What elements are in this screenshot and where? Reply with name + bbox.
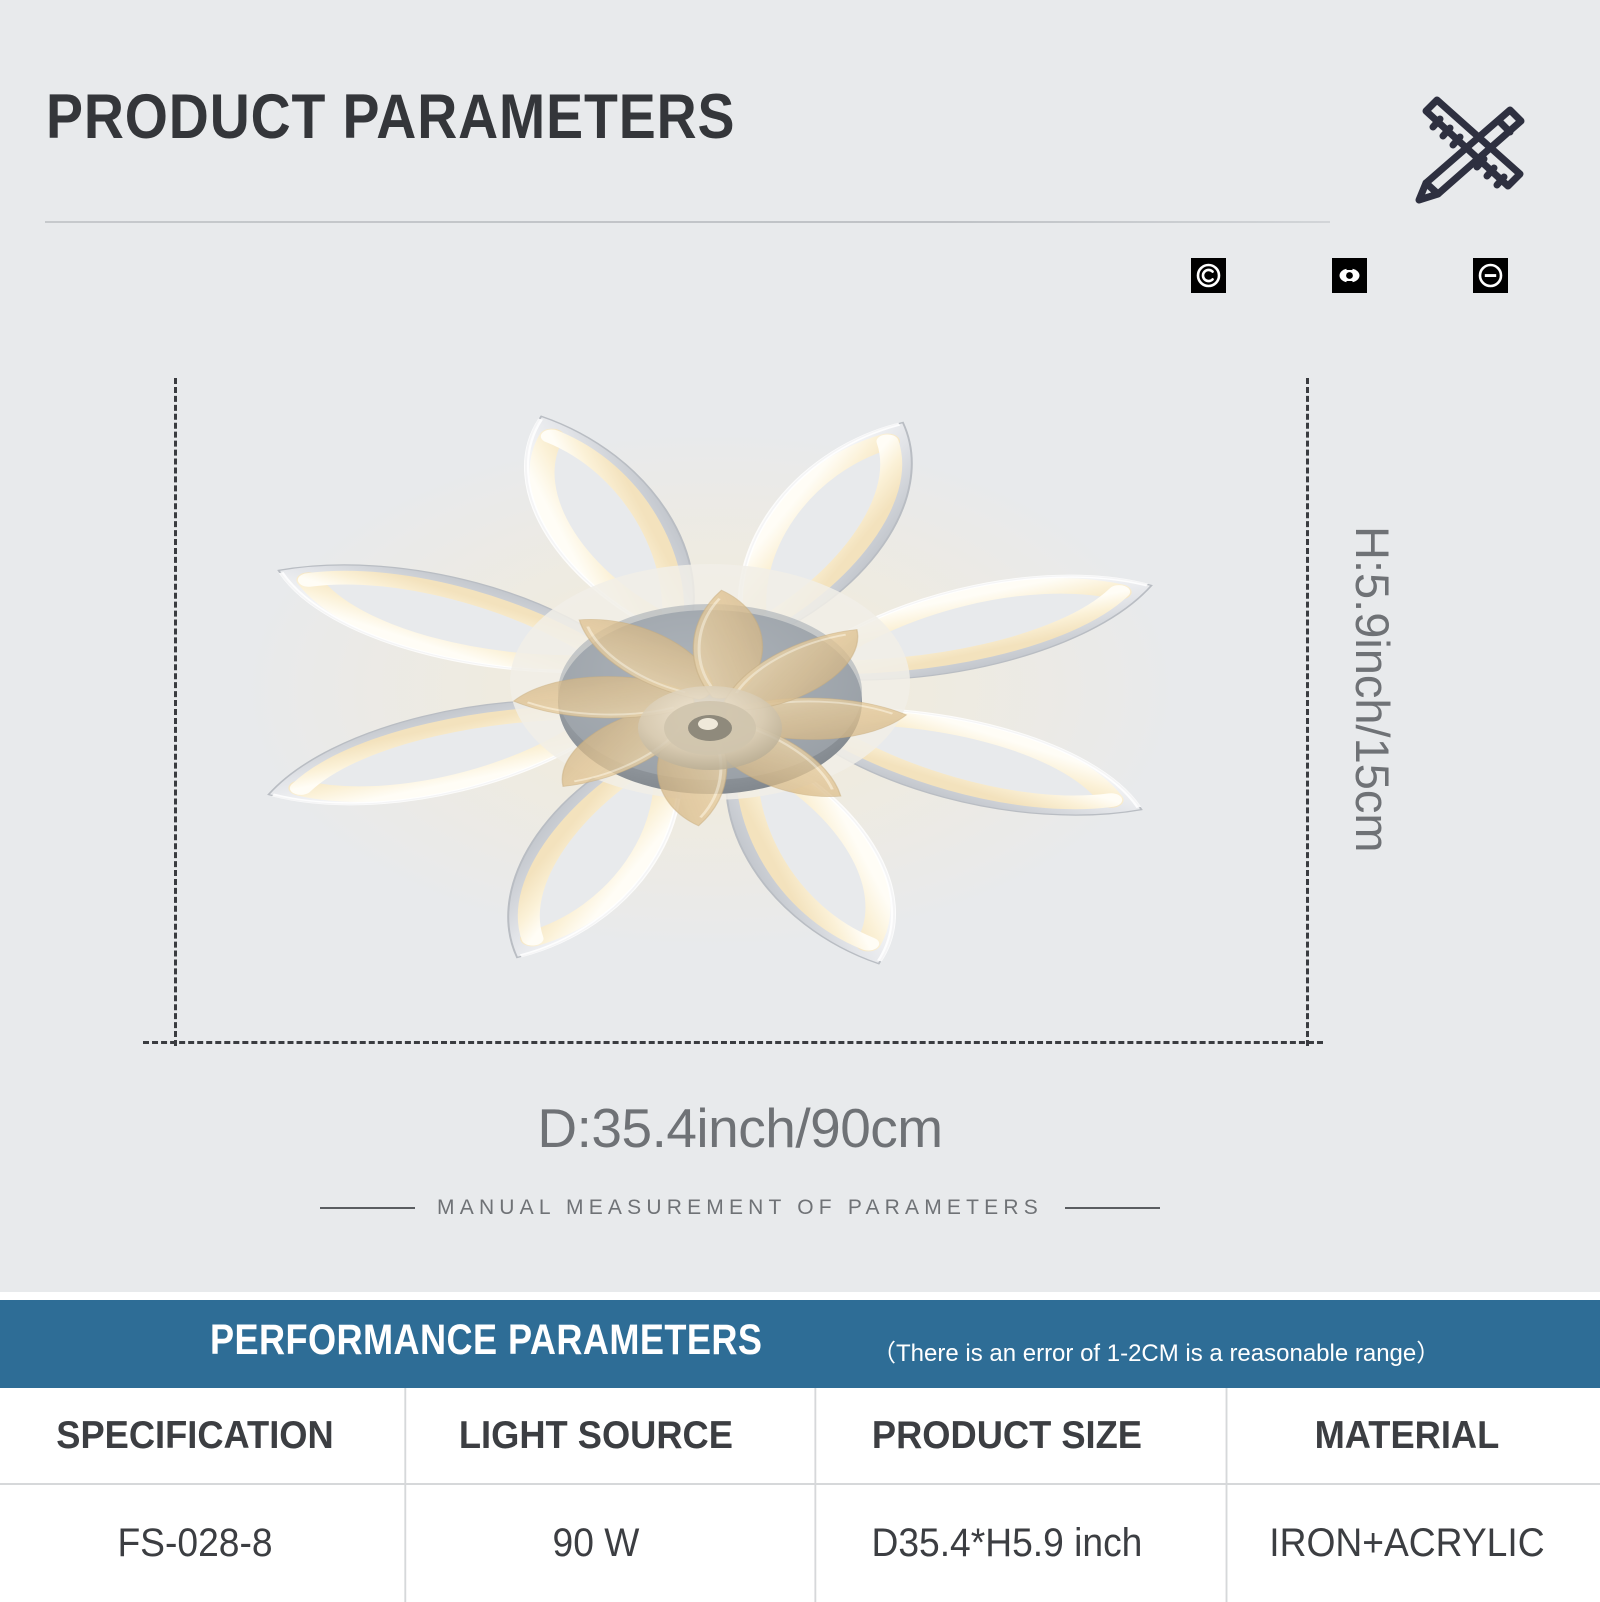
spec-value-specification: FS-028-8 — [14, 1485, 377, 1602]
spec-value-material: IRON+ACRYLIC — [1226, 1485, 1587, 1602]
spec-header-light-source: LIGHT SOURCE — [404, 1388, 785, 1483]
spec-header-specification: SPECIFICATION — [14, 1388, 377, 1483]
page-title: PRODUCT PARAMETERS — [46, 86, 735, 149]
pencil-ruler-icon — [1392, 88, 1544, 204]
manual-note-rule-left — [320, 1207, 415, 1209]
product-image — [150, 330, 1290, 1030]
performance-note: （There is an error of 1-2CM is a reasona… — [872, 1333, 1440, 1368]
recycle-badge — [1332, 258, 1367, 293]
spec-table-header-row: SPECIFICATION LIGHT SOURCE PRODUCT SIZE … — [0, 1388, 1600, 1485]
manual-measurement-note: MANUAL MEASUREMENT OF PARAMETERS — [0, 1196, 1480, 1220]
spec-table: SPECIFICATION LIGHT SOURCE PRODUCT SIZE … — [0, 1388, 1600, 1600]
title-divider — [45, 221, 1330, 223]
spec-value-product-size: D35.4*H5.9 inch — [814, 1485, 1197, 1602]
manual-note-rule-right — [1065, 1207, 1160, 1209]
center-cap — [638, 686, 782, 770]
manual-note-text: MANUAL MEASUREMENT OF PARAMETERS — [437, 1196, 1043, 1220]
spec-value-light-source: 90 W — [404, 1485, 785, 1602]
diameter-dimension-label: D:35.4inch/90cm — [0, 1101, 1480, 1156]
copyright-badge — [1191, 258, 1226, 293]
product-parameters-panel: PRODUCT PARAMETERS — [0, 0, 1600, 1292]
spec-table-value-row: FS-028-8 90 W D35.4*H5.9 inch IRON+ACRYL… — [0, 1485, 1600, 1602]
height-dimension-label: H:5.9inch/15cm — [1345, 526, 1400, 853]
right-dimension-guide — [1306, 378, 1309, 1046]
performance-title: PERFORMANCE PARAMETERS — [210, 1316, 762, 1365]
spec-header-material: MATERIAL — [1226, 1388, 1587, 1483]
bottom-dimension-guide — [143, 1041, 1323, 1044]
no-entry-badge — [1473, 258, 1508, 293]
spec-header-product-size: PRODUCT SIZE — [814, 1388, 1197, 1483]
